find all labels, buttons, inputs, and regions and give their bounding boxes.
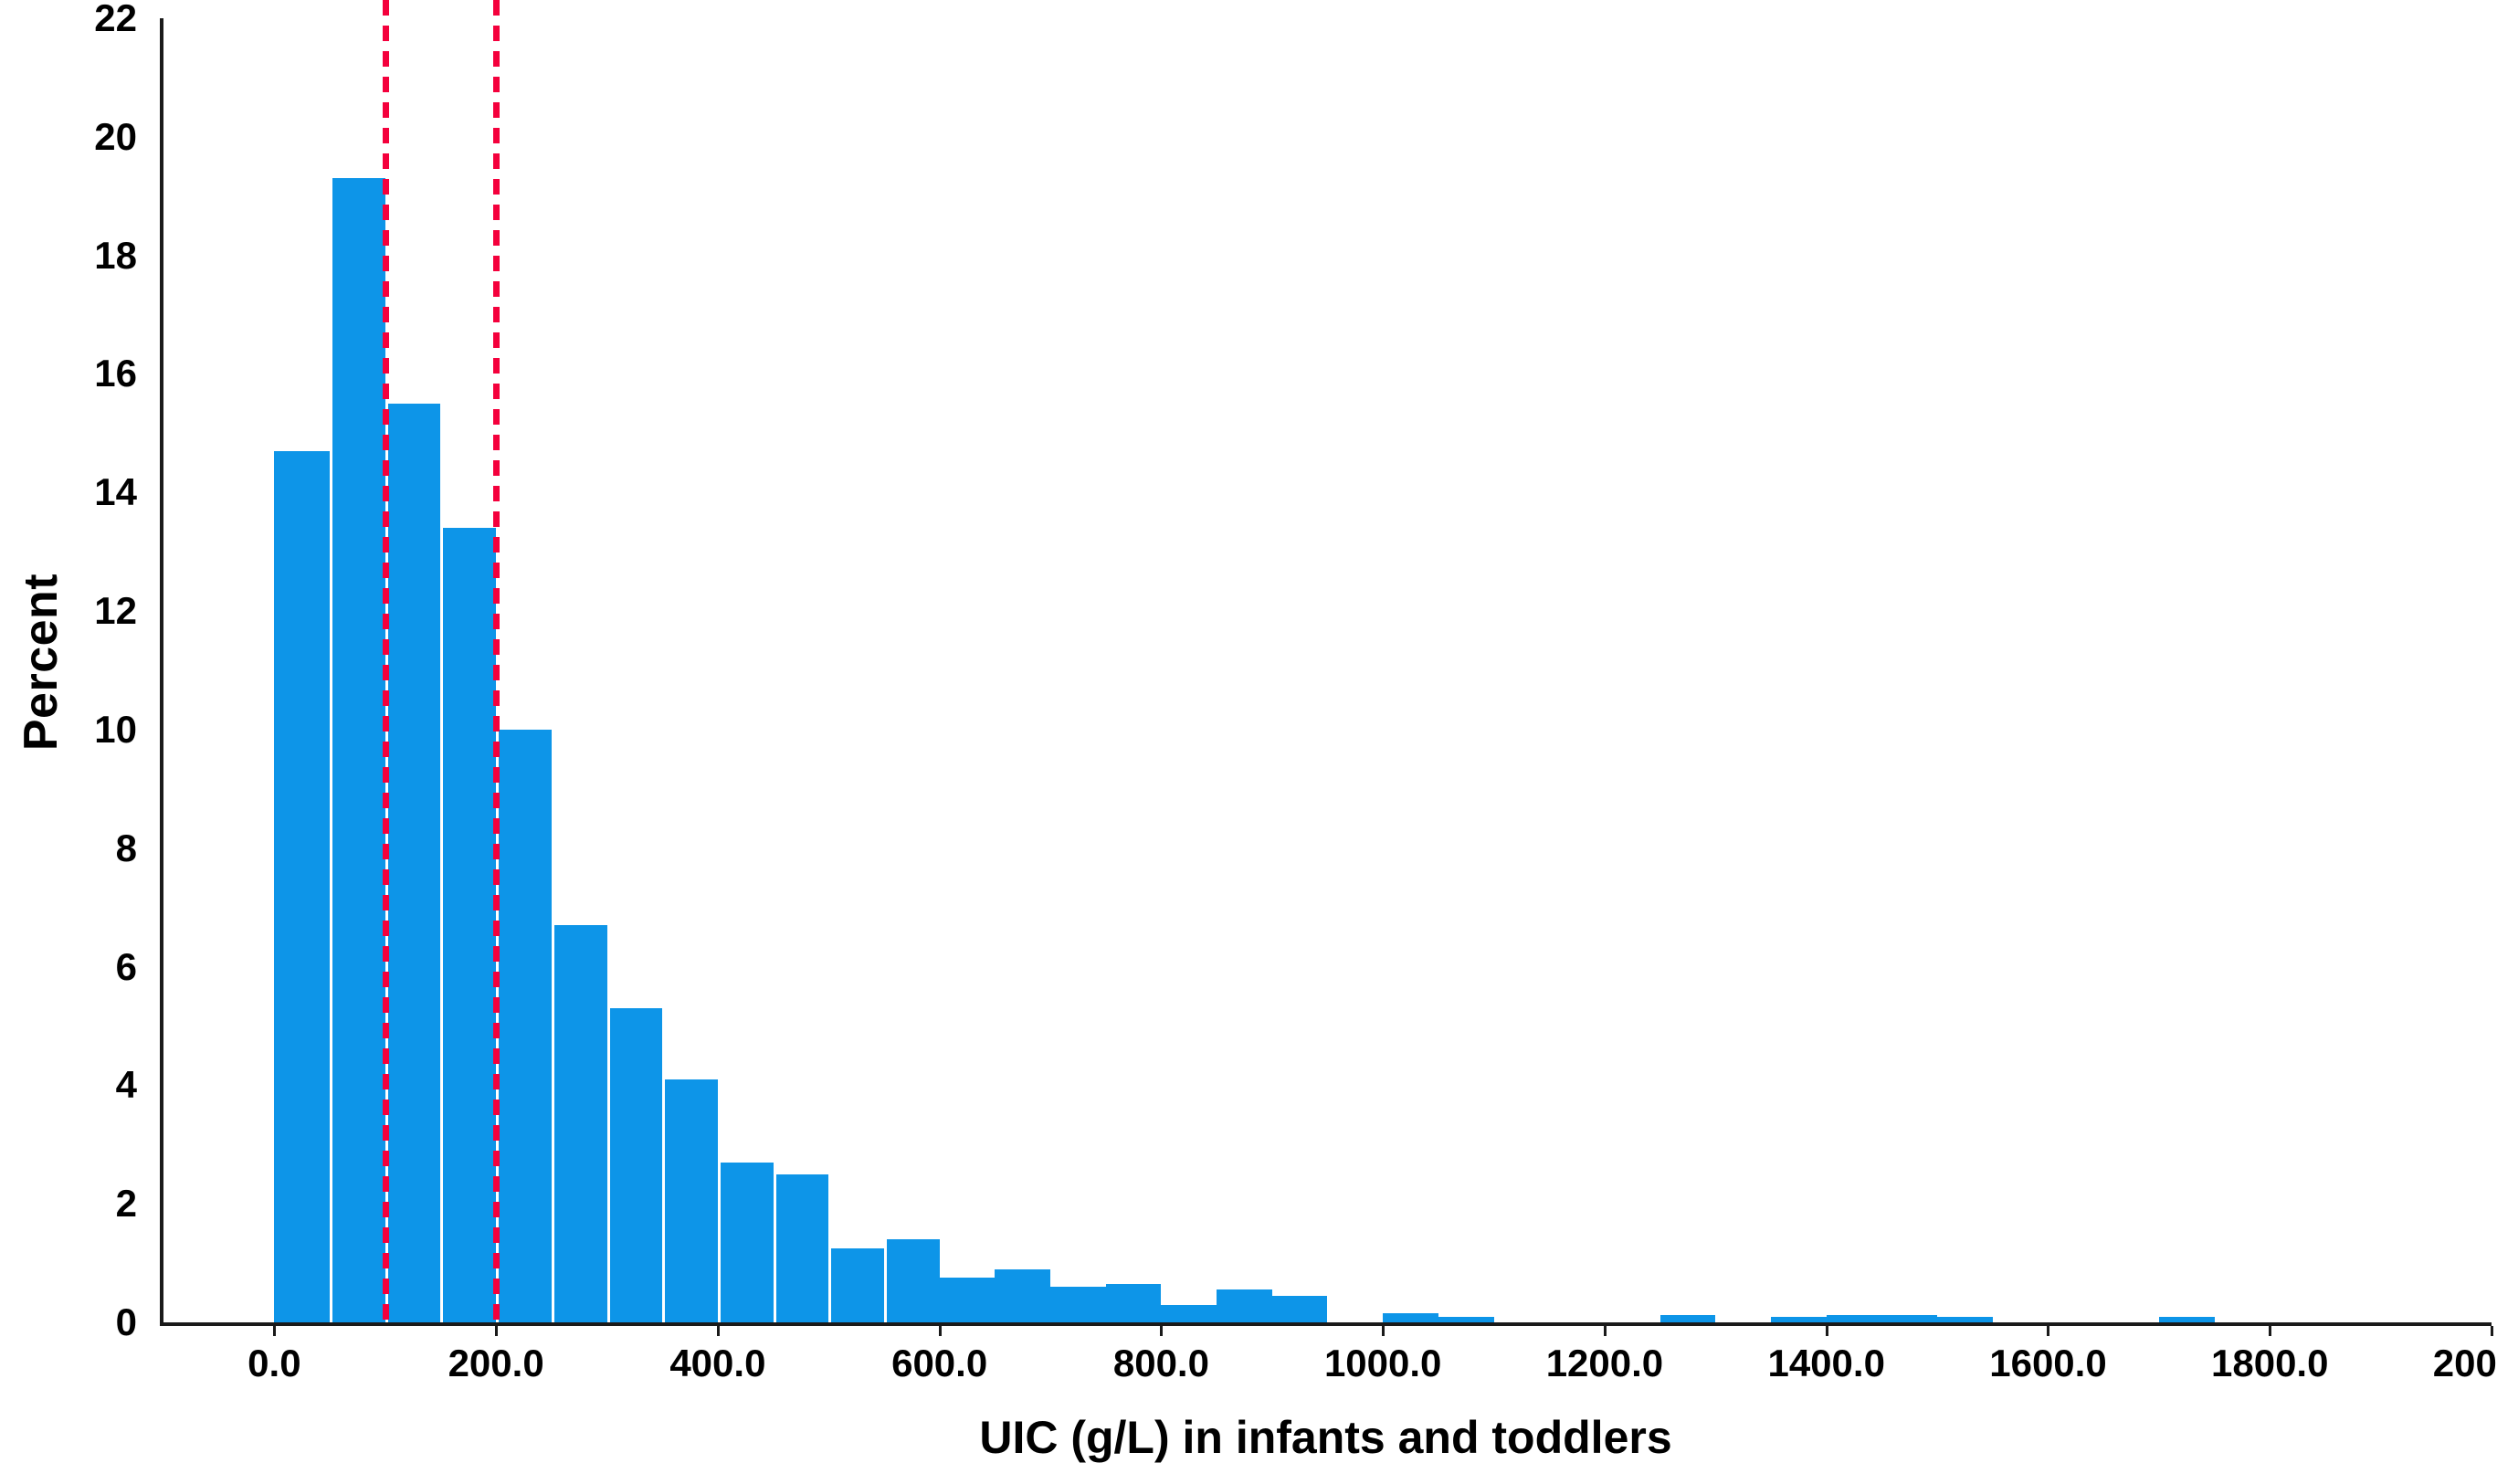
histogram-bar [1771, 1317, 1827, 1322]
x-axis-tick-mark [495, 1326, 498, 1336]
histogram-bar [274, 451, 330, 1322]
histogram-figure: Percent 0246810121416182022 0.0200.0400.… [0, 0, 2497, 1484]
x-axis-tick-mark [1826, 1326, 1828, 1336]
y-axis-tick-label: 10 [27, 710, 137, 749]
histogram-bar [552, 925, 607, 1322]
y-axis-tick-label: 4 [27, 1066, 137, 1104]
histogram-bar [884, 1239, 940, 1322]
histogram-bar [385, 404, 441, 1322]
histogram-bar [995, 1269, 1050, 1322]
x-axis-tick-label: 200.0 [386, 1344, 606, 1383]
y-axis-tick-label: 14 [27, 473, 137, 511]
x-axis-tick-mark [1382, 1326, 1385, 1336]
x-axis-tick-label: 600.0 [830, 1344, 1049, 1383]
histogram-bar [607, 1008, 663, 1322]
y-axis-title: Percent [0, 0, 82, 1324]
upper-reference-line-icon [493, 0, 500, 1322]
histogram-bar [718, 1163, 774, 1322]
y-axis-tick-label: 22 [27, 0, 137, 37]
histogram-bar [1438, 1317, 1494, 1322]
histogram-bar [1106, 1284, 1162, 1322]
x-axis-title: UIC (g/L) in infants and toddlers [160, 1411, 2492, 1464]
y-axis-tick-label: 2 [27, 1184, 137, 1223]
histogram-bar [330, 178, 385, 1322]
histogram-bar [1050, 1287, 1106, 1322]
histogram-bar [440, 528, 496, 1322]
x-axis-tick-label: 1200.0 [1495, 1344, 1714, 1383]
plot-area [163, 18, 2492, 1322]
histogram-bar [1827, 1315, 1882, 1322]
x-axis-tick-label: 1800.0 [2160, 1344, 2379, 1383]
histogram-bar [828, 1248, 884, 1322]
x-axis-tick-mark [2047, 1326, 2049, 1336]
x-axis-tick-mark [2491, 1326, 2493, 1336]
histogram-bar [774, 1174, 829, 1322]
x-axis-tick-label: 1600.0 [1938, 1344, 2157, 1383]
y-axis-tick-label: 0 [27, 1303, 137, 1342]
histogram-bar [1383, 1313, 1438, 1322]
y-axis-tick-label: 8 [27, 829, 137, 868]
histogram-bar [1660, 1315, 1716, 1322]
x-axis-tick-label: 2000.0 [2382, 1344, 2497, 1383]
y-axis-tick-label: 12 [27, 592, 137, 630]
histogram-bar [1881, 1315, 1937, 1322]
y-axis-tick-label: 6 [27, 948, 137, 986]
x-axis-tick-mark [2269, 1326, 2271, 1336]
histogram-bar [1161, 1305, 1217, 1322]
x-axis-tick-mark [1160, 1326, 1163, 1336]
x-axis-tick-mark [273, 1326, 276, 1336]
y-axis-tick-label: 20 [27, 118, 137, 156]
histogram-bar [496, 730, 552, 1322]
x-axis-tick-label: 1400.0 [1717, 1344, 1936, 1383]
x-axis-line [160, 1322, 2492, 1326]
histogram-bar [1217, 1289, 1272, 1322]
histogram-bar [1272, 1296, 1328, 1322]
x-axis-tick-mark [717, 1326, 720, 1336]
x-axis-tick-label: 400.0 [608, 1344, 827, 1383]
histogram-bar [2159, 1317, 2215, 1322]
y-axis-tick-label: 16 [27, 354, 137, 393]
x-axis-tick-mark [1604, 1326, 1607, 1336]
histogram-bar [1937, 1317, 1993, 1322]
x-axis-tick-label: 0.0 [164, 1344, 384, 1383]
x-axis-tick-mark [939, 1326, 942, 1336]
histogram-bar [940, 1278, 996, 1322]
x-axis-tick-label: 800.0 [1051, 1344, 1270, 1383]
lower-reference-line-icon [383, 0, 389, 1322]
x-axis-tick-label: 1000.0 [1273, 1344, 1492, 1383]
y-axis-tick-label: 18 [27, 237, 137, 275]
histogram-bar [662, 1079, 718, 1322]
